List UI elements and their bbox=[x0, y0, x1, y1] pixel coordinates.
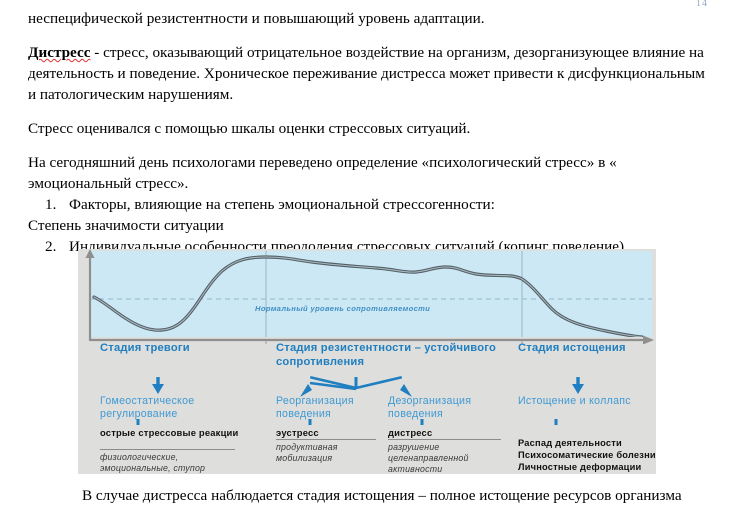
closing-paragraph: В случае дистресса наблюдается стадия ис… bbox=[28, 485, 718, 506]
between-list-line: Степень значимости ситуации bbox=[28, 215, 708, 236]
resistance-curve-inner bbox=[94, 257, 642, 337]
document-body: неспецифической резистентности и повышаю… bbox=[28, 8, 708, 257]
list-item-1-number: 1. bbox=[45, 194, 56, 215]
resistance-curve-svg bbox=[90, 251, 652, 337]
block-detail-homeostatic: физиологические, эмоциональные, ступор bbox=[100, 452, 245, 474]
stage-title-row: Стадия тревоги Стадия резистентности – у… bbox=[78, 341, 656, 377]
chart-plot-area: Нормальный уровень сопротивляемости bbox=[90, 251, 652, 337]
normal-level-label: Нормальный уровень сопротивляемости bbox=[255, 304, 430, 313]
paragraph-1-text: неспецифической резистентности и повышаю… bbox=[28, 10, 485, 27]
connector-line-resistance-left bbox=[310, 383, 356, 389]
spacer-line-3 bbox=[308, 386, 355, 388]
block-heading-reorganization: Реорганизация поведения bbox=[276, 395, 391, 420]
block-detail-reorganization: продуктивная мобилизация bbox=[276, 442, 386, 464]
divider-rule-2 bbox=[276, 439, 376, 440]
paragraph-3: Стресс оценивался с помощью шкалы оценки… bbox=[28, 118, 708, 139]
list-item-1-label: Факторы, влияющие на степень эмоциональн… bbox=[69, 196, 495, 213]
stage-title-resistance: Стадия резистентности – устойчивого сопр… bbox=[276, 342, 526, 369]
arrow-left-branch-resistance bbox=[306, 385, 356, 388]
arrow-down-icon-alarm bbox=[152, 384, 164, 394]
paragraph-1: неспецифической резистентности и повышаю… bbox=[28, 8, 708, 29]
numbered-list: 1. Факторы, влияющие на степень эмоциона… bbox=[28, 194, 708, 215]
block-heading-homeostatic: Гомеостатическое регулирование bbox=[100, 395, 230, 420]
arrow-down-icon-exhaustion bbox=[572, 384, 584, 394]
paragraph-2-text: - стресс, оказывающий отрицательное возд… bbox=[28, 44, 705, 103]
stage-title-alarm: Стадия тревоги bbox=[100, 342, 190, 356]
divider-rule-1 bbox=[100, 449, 235, 450]
list-item-1: 1. Факторы, влияющие на степень эмоциона… bbox=[28, 194, 708, 215]
block-keyword-reorganization: эустресс bbox=[276, 427, 386, 439]
block-keyword-homeostatic: острые стрессовые реакции bbox=[100, 427, 240, 439]
term-distress: Дистресс bbox=[28, 44, 90, 61]
block-heading-exhaustion: Истощение и коллапс bbox=[518, 395, 648, 408]
block-keyword-exhaustion: Распад деятельности Психосоматические бо… bbox=[518, 437, 663, 473]
block-heading-disorganization: Дезорганизация поведения bbox=[388, 395, 508, 420]
divider-rule-3 bbox=[388, 439, 501, 440]
paragraph-4-text: На сегодняшний день психологами переведе… bbox=[28, 154, 617, 192]
spacer-path-b bbox=[310, 383, 356, 389]
block-keyword-disorganization: дистресс bbox=[388, 427, 503, 439]
spacer-line-4 bbox=[312, 381, 356, 388]
paragraph-4: На сегодняшний день психологами переведе… bbox=[28, 152, 708, 194]
stress-stages-figure: Нормальный уровень сопротивляемости Стад… bbox=[78, 249, 656, 474]
paragraph-2: Дистресс - стресс, оказывающий отрицател… bbox=[28, 42, 708, 105]
stage-title-exhaustion: Стадия истощения bbox=[518, 342, 626, 356]
paragraph-3-text: Стресс оценивался с помощью шкалы оценки… bbox=[28, 120, 470, 137]
block-detail-disorganization: разрушение целенаправленной активности bbox=[388, 442, 503, 475]
spacer-line bbox=[306, 388, 356, 389]
spacer-line-2 bbox=[311, 384, 356, 386]
list-item-2-number: 2. bbox=[45, 236, 56, 257]
